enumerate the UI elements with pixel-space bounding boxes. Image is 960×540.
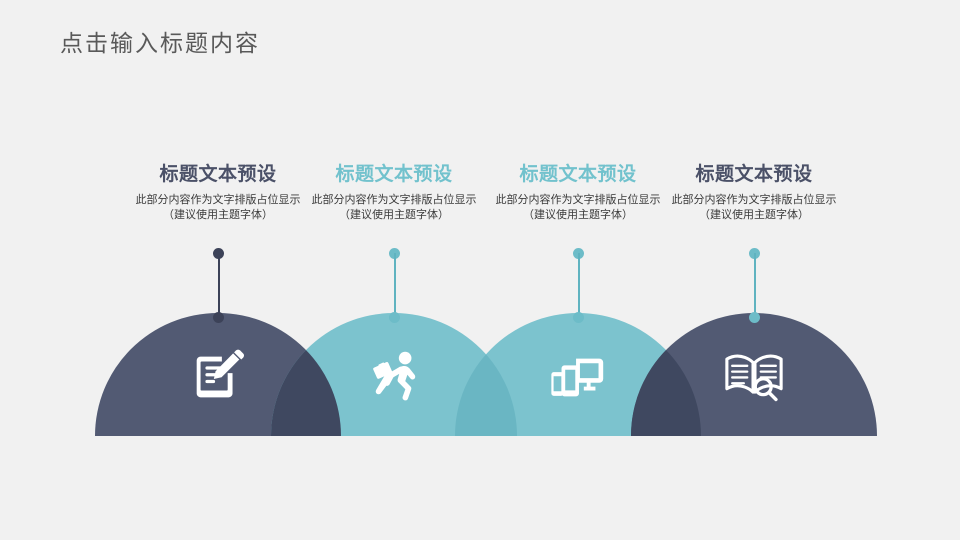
connector-stem-1 bbox=[218, 253, 220, 319]
dome-shape-4 bbox=[631, 313, 877, 540]
dome-shape-2 bbox=[271, 313, 517, 540]
content-column-2[interactable]: 标题文本预设 此部分内容作为文字排版占位显示 （建议使用主题字体） bbox=[299, 163, 489, 223]
column-heading-4[interactable]: 标题文本预设 bbox=[659, 163, 849, 187]
connector-stem-4 bbox=[754, 253, 756, 319]
dome-overlap-group bbox=[271, 313, 701, 540]
edit-note-icon bbox=[187, 345, 249, 407]
column-heading-1[interactable]: 标题文本预设 bbox=[123, 163, 313, 187]
content-column-3[interactable]: 标题文本预设 此部分内容作为文字排版占位显示 （建议使用主题字体） bbox=[483, 163, 673, 223]
book-search-icon bbox=[723, 345, 785, 407]
column-heading-2[interactable]: 标题文本预设 bbox=[299, 163, 489, 187]
connector-dot-bottom-1 bbox=[213, 312, 224, 323]
page-title[interactable]: 点击输入标题内容 bbox=[60, 26, 260, 60]
content-column-1[interactable]: 标题文本预设 此部分内容作为文字排版占位显示 （建议使用主题字体） bbox=[123, 163, 313, 223]
slide-canvas: 点击输入标题内容 bbox=[0, 0, 960, 540]
column-body-4[interactable]: 此部分内容作为文字排版占位显示 （建议使用主题字体） bbox=[659, 193, 849, 223]
column-body-2[interactable]: 此部分内容作为文字排版占位显示 （建议使用主题字体） bbox=[299, 193, 489, 223]
column-body-1[interactable]: 此部分内容作为文字排版占位显示 （建议使用主题字体） bbox=[123, 193, 313, 223]
connector-dot-bottom-2 bbox=[389, 312, 400, 323]
icon-layer bbox=[0, 0, 960, 540]
responsive-devices-icon bbox=[547, 345, 609, 407]
dome-shape-1 bbox=[95, 313, 341, 540]
column-heading-3[interactable]: 标题文本预设 bbox=[483, 163, 673, 187]
dome-shape-3 bbox=[455, 313, 701, 540]
column-body-3[interactable]: 此部分内容作为文字排版占位显示 （建议使用主题字体） bbox=[483, 193, 673, 223]
running-person-briefcase-icon bbox=[363, 345, 425, 407]
content-column-4[interactable]: 标题文本预设 此部分内容作为文字排版占位显示 （建议使用主题字体） bbox=[659, 163, 849, 223]
connector-dot-bottom-3 bbox=[573, 312, 584, 323]
connector-dot-bottom-4 bbox=[749, 312, 760, 323]
connector-stem-2 bbox=[394, 253, 396, 319]
dome-group bbox=[0, 0, 960, 540]
connector-stem-3 bbox=[578, 253, 580, 319]
